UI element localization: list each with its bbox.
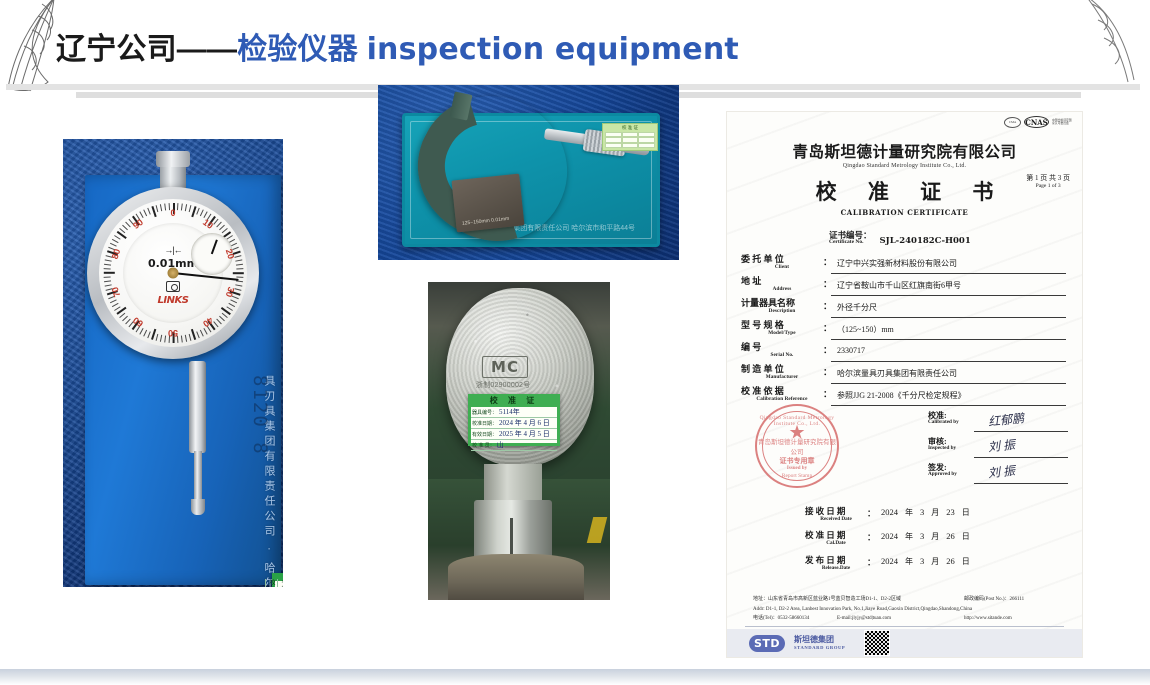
date-label-cn: 接 收 日 期 (805, 507, 867, 516)
field-label-cn: 地 址 (741, 277, 823, 286)
field-label: 计量器具名称 Description (741, 299, 823, 314)
date-month-unit: 月 (931, 507, 939, 518)
field-label-cn: 委 托 单 位 (741, 255, 823, 264)
calibration-label-3: 校 准 证 器具编号： 5114年 校准日期： 2024 年 4 月 6 日 有… (468, 394, 560, 446)
date-colon: ： (867, 531, 875, 543)
field-value: 哈尔滨量具刃具集团有限责任公司 (831, 365, 1066, 384)
field-value: 辽宁省鞍山市千山区红旗南街6甲号 (831, 277, 1066, 296)
title-company-text: 辽宁公司—— (56, 33, 237, 66)
certificate-page-number: 第 1 页 共 3 页 Page 1 of 3 (1026, 174, 1070, 191)
field-label: 制 造 单 位 Manufacturer (741, 365, 823, 380)
date-day: 26 (946, 531, 955, 541)
certificate-brand-bar: STD 斯坦德集团 STANDARD GROUP (727, 629, 1082, 657)
certificate-field-row: 编 号 Serial No. ： 2330717 (741, 343, 1066, 362)
footer-post-code: 邮政编码(Post No.)：266111 (964, 595, 1056, 604)
seal-middle-en: Issued by (757, 466, 837, 471)
handwritten-signature: 刘 振 (987, 462, 1016, 482)
date-row: 校 准 日 期 Cal.Date ： 2024 年 3 月 26 日 (805, 531, 1055, 546)
field-label-en: Serial No. (741, 353, 823, 358)
date-label-cn: 发 布 日 期 (805, 556, 867, 565)
field-colon: ： (823, 277, 831, 290)
certificate-field-row: 制 造 单 位 Manufacturer ： 哈尔滨量具刃具集团有限责任公司 (741, 365, 1066, 384)
field-label-cn: 编 号 (741, 343, 823, 352)
date-month-unit: 月 (931, 531, 939, 542)
calibration-label-3-row: 有效日期： 2025 年 4 月 5 日 (471, 429, 557, 440)
date-label: 校 准 日 期 Cal.Date (805, 531, 867, 546)
seal-middle-text: 证书专用章 Issued by (757, 456, 837, 471)
date-label: 接 收 日 期 Received Date (805, 507, 867, 522)
label3-key: 有效日期： (472, 431, 497, 438)
calibration-label-1: 校 准 证 器具编号：812078 校准日期：2024 年 3 月 21 日 有… (272, 573, 283, 587)
field-label-cn: 校 准 依 据 (741, 387, 823, 396)
certificate-field-row: 委 托 单 位 Client ： 辽宁中兴实强新材料股份有限公司 (741, 255, 1066, 274)
gauge-scale-number: 0 (170, 208, 175, 218)
date-value: 2024 年 3 月 26 日 (875, 531, 970, 542)
brand-name-en: STANDARD GROUP (794, 645, 845, 651)
certificate-company-en: Qingdao Standard Metrology Institute Co.… (727, 163, 1082, 169)
signature-line: 红郁鹏 (974, 412, 1068, 432)
calibration-label-1-row: 有效日期：2025 年 3 月 25 日 (277, 579, 283, 587)
calibration-label-3-row: 器具编号： 5114年 (471, 407, 557, 418)
seal-middle-cn: 证书专用章 (780, 457, 815, 465)
footer-tel: 电话(Tel)：0532-58660134 (753, 614, 837, 623)
date-month: 3 (920, 507, 924, 517)
cell (638, 143, 655, 148)
field-value: 2330717 (831, 343, 1066, 362)
date-day-unit: 日 (962, 507, 970, 518)
field-label-en: Client (741, 265, 823, 270)
calibration-label-1-rows: 器具编号：812078 校准日期：2024 年 3 月 21 日 有效日期：20… (276, 579, 283, 587)
machine-base (448, 554, 584, 600)
signature-row: 校准: Calibrated by 红郁鹏 (928, 412, 1068, 432)
certificate-field-row: 地 址 Address ： 辽宁省鞍山市千山区红旗南街6甲号 (741, 277, 1066, 296)
date-value: 2024 年 3 月 23 日 (875, 507, 970, 518)
footer-divider (745, 626, 1064, 627)
gauge-scale-number: 50 (168, 328, 178, 338)
date-month-unit: 月 (931, 556, 939, 567)
certificate-company-cn: 青岛斯坦德计量研究院有限公司 (727, 140, 1082, 162)
date-row: 接 收 日 期 Received Date ： 2024 年 3 月 23 日 (805, 507, 1055, 522)
field-colon: ： (823, 343, 831, 356)
slide-bottom-bar (0, 669, 1150, 685)
label3-value: 5114年 (497, 407, 522, 417)
micrometer-range-text: 125~150mm 0.01mm (462, 216, 510, 227)
certificate-number-label: 证书编号： Certificate No. (829, 231, 872, 246)
signature-row: 签发: Approved by 刘 振 (928, 464, 1068, 484)
field-label-cn: 计量器具名称 (741, 299, 823, 308)
gauge-maker-logo-icon (166, 281, 180, 292)
signature-label-en: Inspected by (928, 446, 974, 451)
certificate-footer: 地址：山东省青岛市高新区蓝业路1号蓝贝智造工场D1-1、D2-2区域 邮政编码(… (727, 595, 1082, 623)
certificate-field-row: 计量器具名称 Description ： 外径千分尺 (741, 299, 1066, 318)
signature-label: 审核: Inspected by (928, 438, 974, 452)
signature-label-en: Calibrated by (928, 420, 974, 425)
field-label-en: Calibration Reference (741, 397, 823, 402)
title-topic-en: inspection equipment (367, 32, 739, 67)
field-label-en: Description (741, 309, 823, 314)
field-label: 校 准 依 据 Calibration Reference (741, 387, 823, 402)
mc-part-photo: MC 浙制02900002号 校 准 证 器具编号： 5114年 校准日期： 2… (428, 282, 610, 600)
date-year: 2024 (881, 556, 898, 566)
date-year-unit: 年 (905, 556, 913, 567)
mc-stamp-mark: MC (482, 356, 528, 378)
gauge-plunger (189, 361, 206, 453)
date-year-unit: 年 (905, 531, 913, 542)
dial-gauge: →|← 0.01mm LINKS 0102030405060708090 (87, 187, 259, 359)
date-value: 2024 年 3 月 26 日 (875, 556, 970, 567)
cell (622, 143, 639, 148)
seal-star-icon: ★ (788, 424, 805, 443)
field-value: （125~150）mm (831, 321, 1066, 340)
date-month: 3 (920, 531, 924, 541)
label3-value: 2025 年 4 月 5 日 (497, 429, 552, 439)
calibration-label-3-grid: 器具编号： 5114年 校准日期： 2024 年 4 月 6 日 有效日期： 2… (471, 407, 557, 443)
footer-line-address-en: Addr: D1-1, D2-2 Area, Lanbest Innovatio… (753, 605, 1056, 614)
mc-stamp-sub-text: 浙制02900002号 (476, 380, 530, 390)
date-label-en: Received Date (805, 517, 867, 522)
certificate-field-row: 型 号 规 格 Model/Type ： （125~150）mm (741, 321, 1066, 340)
footer-email: E-mail:jlyjy@std|tuan.com (837, 614, 964, 623)
feather-decoration-right (1076, 0, 1150, 87)
cma-logo-icon: CMA (1004, 117, 1021, 128)
footer-addr-cn: 地址：山东省青岛市高新区蓝业路1号蓝贝智造工场D1-1、D2-2区域 (753, 595, 964, 604)
qr-code-icon (864, 630, 890, 656)
date-year-unit: 年 (905, 507, 913, 518)
handwritten-signature: 红郁鹏 (987, 409, 1025, 430)
cnas-caption-text: 中国合格评定国家认可委员会 (1052, 119, 1072, 126)
label3-value: 山 (495, 440, 506, 450)
block-handwritten-serial: 8120 8 (249, 375, 271, 456)
label3-key: 器具编号： (472, 409, 497, 416)
brand-name-cn: 斯坦德集团 (794, 635, 834, 644)
field-value: 参照JJG 21-2008《千分尺检定规程》 (831, 387, 1066, 406)
gauge-arrow-symbol: →|← (164, 245, 181, 255)
field-label: 委 托 单 位 Client (741, 255, 823, 270)
date-colon: ： (867, 507, 875, 519)
field-colon: ： (823, 299, 831, 312)
field-colon: ： (823, 365, 831, 378)
handwritten-signature: 刘 振 (987, 436, 1016, 456)
date-year: 2024 (881, 507, 898, 517)
signature-label-en: Approved by (928, 472, 974, 477)
field-value: 外径千分尺 (831, 299, 1066, 318)
certificate-signature-block: 校准: Calibrated by 红郁鹏 审核: Inspected by 刘… (928, 412, 1068, 490)
date-year: 2024 (881, 531, 898, 541)
label3-key: 校准日期： (472, 420, 497, 427)
field-label-en: Model/Type (741, 331, 823, 336)
title-topic-cn: 检验仪器 (237, 33, 358, 66)
date-day-unit: 日 (962, 556, 970, 567)
micrometer-sleeve (544, 128, 589, 145)
micrometer-frame: 125~150mm 0.01mm (418, 91, 578, 246)
red-official-seal: Qingdao Standard Metrology Institute Co.… (755, 404, 839, 488)
slide-root: 辽宁公司——检验仪器 inspection equipment 具刃具集团有限责… (0, 0, 1150, 685)
date-label-en: Release.Date (805, 566, 867, 571)
date-label: 发 布 日 期 Release.Date (805, 556, 867, 571)
signature-label: 校准: Calibrated by (928, 412, 974, 426)
std-logo-icon: STD (749, 635, 785, 652)
date-day-unit: 日 (962, 531, 970, 542)
gauge-hub (168, 268, 179, 279)
machine-shaft (474, 500, 552, 562)
signature-row: 审核: Inspected by 刘 振 (928, 438, 1068, 458)
field-value: 辽宁中兴实强新材料股份有限公司 (831, 255, 1066, 274)
certificate-number-row: 证书编号： Certificate No. SJL-240182C-H001 (727, 231, 1082, 246)
field-label: 编 号 Serial No. (741, 343, 823, 358)
field-colon: ： (823, 387, 831, 400)
date-day: 26 (946, 556, 955, 566)
calibration-label-2-caption: 校 准 证 (603, 125, 657, 131)
knob-neck (484, 464, 542, 504)
certificate-field-row: 校 准 依 据 Calibration Reference ： 参照JJG 21… (741, 387, 1066, 406)
date-label-cn: 校 准 日 期 (805, 531, 867, 540)
label3-value: 2024 年 4 月 6 日 (497, 418, 552, 428)
field-label: 地 址 Address (741, 277, 823, 292)
signature-label: 签发: Approved by (928, 464, 974, 478)
page-title: 辽宁公司——检验仪器 inspection equipment (56, 33, 739, 66)
gauge-contact-tip (191, 499, 205, 515)
signature-line: 刘 振 (974, 438, 1068, 458)
certificate-number-value: SJL-240182C-H001 (880, 236, 971, 246)
cnas-logo-icon: CNAS (1024, 116, 1049, 128)
label3-key: 校 准 员： (472, 442, 495, 449)
date-label-en: Cal.Date (805, 541, 867, 546)
footer-website: http://www.sitande.com (964, 614, 1056, 623)
brand-name: 斯坦德集团 STANDARD GROUP (794, 635, 845, 650)
gauge-brand-text: LINKS (158, 295, 189, 306)
calibration-label-3-row: 校准日期： 2024 年 4 月 6 日 (471, 418, 557, 429)
field-label-cn: 型 号 规 格 (741, 321, 823, 330)
page-number-en: Page 1 of 3 (1026, 183, 1070, 190)
gauge-plunger-shaft (194, 451, 202, 503)
calibration-certificate-photo: CMA CNAS 中国合格评定国家认可委员会 青岛斯坦德计量研究院有限公司 Qi… (727, 112, 1082, 657)
calibration-label-3-row: 校 准 员： 山 (471, 440, 557, 451)
field-label-cn: 制 造 单 位 (741, 365, 823, 374)
field-label: 型 号 规 格 Model/Type (741, 321, 823, 336)
footer-line-address-cn: 地址：山东省青岛市高新区蓝业路1号蓝贝智造工场D1-1、D2-2区域 邮政编码(… (753, 595, 1056, 604)
date-row: 发 布 日 期 Release.Date ： 2024 年 3 月 26 日 (805, 556, 1055, 571)
seal-arc-bottom-text: Report Stamp (757, 473, 837, 479)
accreditation-logos: CMA CNAS 中国合格评定国家认可委员会 (1004, 116, 1072, 128)
field-colon: ： (823, 255, 831, 268)
cell (605, 143, 622, 148)
field-colon: ： (823, 321, 831, 334)
footer-addr-en: Addr: D1-1, D2-2 Area, Lanbest Innovatio… (753, 605, 1056, 614)
micrometer-photo: 具集团有限责任公司 哈尔滨市和平路44号 125~150mm 0.01mm 校 … (378, 85, 679, 260)
micrometer-range-plate: 125~150mm 0.01mm (451, 174, 524, 233)
dial-indicator-photo: 具刃具集团有限责任公司 · 哈尔滨和平路44号 8120 8 →|← 0.01m… (63, 139, 283, 587)
date-day: 23 (946, 507, 955, 517)
footer-line-contact: 电话(Tel)：0532-58660134 E-mail:jlyjy@std|t… (753, 614, 1056, 623)
calibration-label-2-grid (605, 132, 655, 148)
certificate-fields: 委 托 单 位 Client ： 辽宁中兴实强新材料股份有限公司 地 址 Add… (727, 255, 1082, 406)
calibration-label-1-row: 校 准 员： (265, 579, 276, 587)
field-label-en: Address (741, 287, 823, 292)
field-label-en: Manufacturer (741, 375, 823, 380)
signature-line: 刘 振 (974, 464, 1068, 484)
date-month: 3 (920, 556, 924, 566)
calibration-label-2: 校 准 证 (602, 123, 658, 151)
micrometer-c-frame (393, 85, 592, 260)
calibration-label-3-caption: 校 准 证 (468, 395, 560, 406)
certificate-dates-block: 接 收 日 期 Received Date ： 2024 年 3 月 23 日 … (805, 507, 1055, 580)
date-colon: ： (867, 556, 875, 568)
certificate-number-label-en: Certificate No. (829, 240, 872, 246)
certificate-title-en: CALIBRATION CERTIFICATE (727, 208, 1082, 217)
